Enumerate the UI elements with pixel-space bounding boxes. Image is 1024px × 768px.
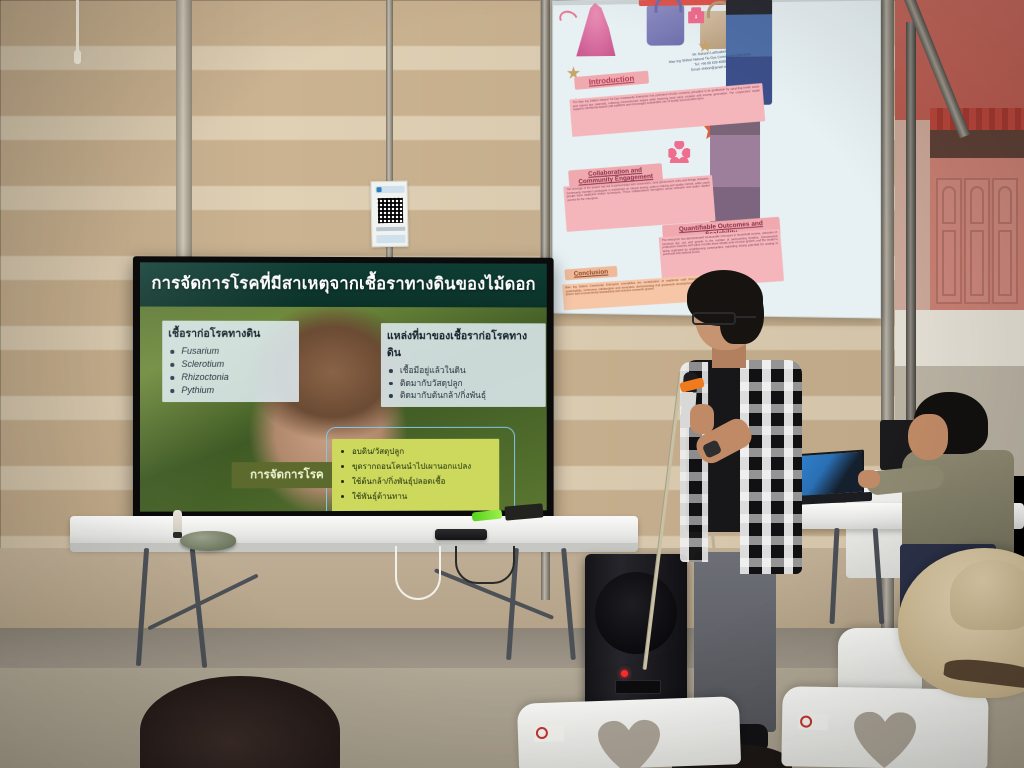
tv-screen: การจัดการโรคที่มีสาเหตุจากเชื้อราทางดินข… (140, 262, 547, 511)
heart-cutout-icon (853, 711, 916, 768)
power-led-icon (621, 670, 628, 677)
building-door-panel (992, 178, 1018, 304)
photo-scene: Mr. Bakarin Latthuabot Mae Ing Shibori N… (0, 0, 1024, 768)
small-figurine (173, 510, 182, 536)
poster-garment-photo (710, 117, 760, 230)
screen-glare (140, 262, 547, 511)
poster-dress-image (573, 2, 620, 56)
qr-code-icon[interactable] (378, 198, 403, 223)
building-eave (930, 130, 1024, 158)
tv-remote-control[interactable] (435, 529, 487, 540)
presentation-slide: การจัดการโรคที่มีสาเหตุจากเชื้อราทางดินข… (140, 262, 547, 511)
poster-flower-icon (668, 141, 690, 163)
front-table-edge (70, 543, 638, 552)
presenter-plaid-jacket-right (740, 360, 802, 574)
hanging-cord (76, 0, 79, 52)
hat-crown (950, 560, 1024, 630)
decorative-stone (180, 531, 236, 551)
poster-heading-introduction: Introduction (574, 71, 649, 90)
operator-face (908, 414, 948, 460)
building-door-panel (936, 178, 962, 304)
building-door-panel (964, 178, 990, 304)
presenter-hand (690, 404, 714, 434)
poster-tote-bag-image (647, 5, 684, 45)
qr-sign-logo-icon (377, 187, 382, 192)
qr-sign-caption (376, 227, 405, 232)
black-cable (455, 546, 515, 584)
speaker-control-panel[interactable] (615, 680, 661, 694)
poster-flower-icon (688, 7, 704, 23)
poster-heading-conclusion: Conclusion (564, 266, 617, 280)
television[interactable]: การจัดการโรคที่มีสาเหตุจากเชื้อราทางดินข… (133, 256, 554, 524)
poster-squiggle-decoration (557, 8, 581, 30)
eyeglasses-icon (692, 312, 736, 325)
plastic-chair-heart-back (517, 696, 741, 768)
qr-code-sign[interactable] (370, 181, 408, 248)
operator-hand (858, 470, 880, 488)
heart-cutout-icon (598, 719, 662, 768)
chair-brand-icon (800, 715, 812, 727)
qr-sign-footer (376, 235, 405, 244)
plastic-chair-heart-back (781, 686, 988, 768)
white-cable (395, 546, 441, 600)
speaker-led-indicators (621, 670, 655, 677)
